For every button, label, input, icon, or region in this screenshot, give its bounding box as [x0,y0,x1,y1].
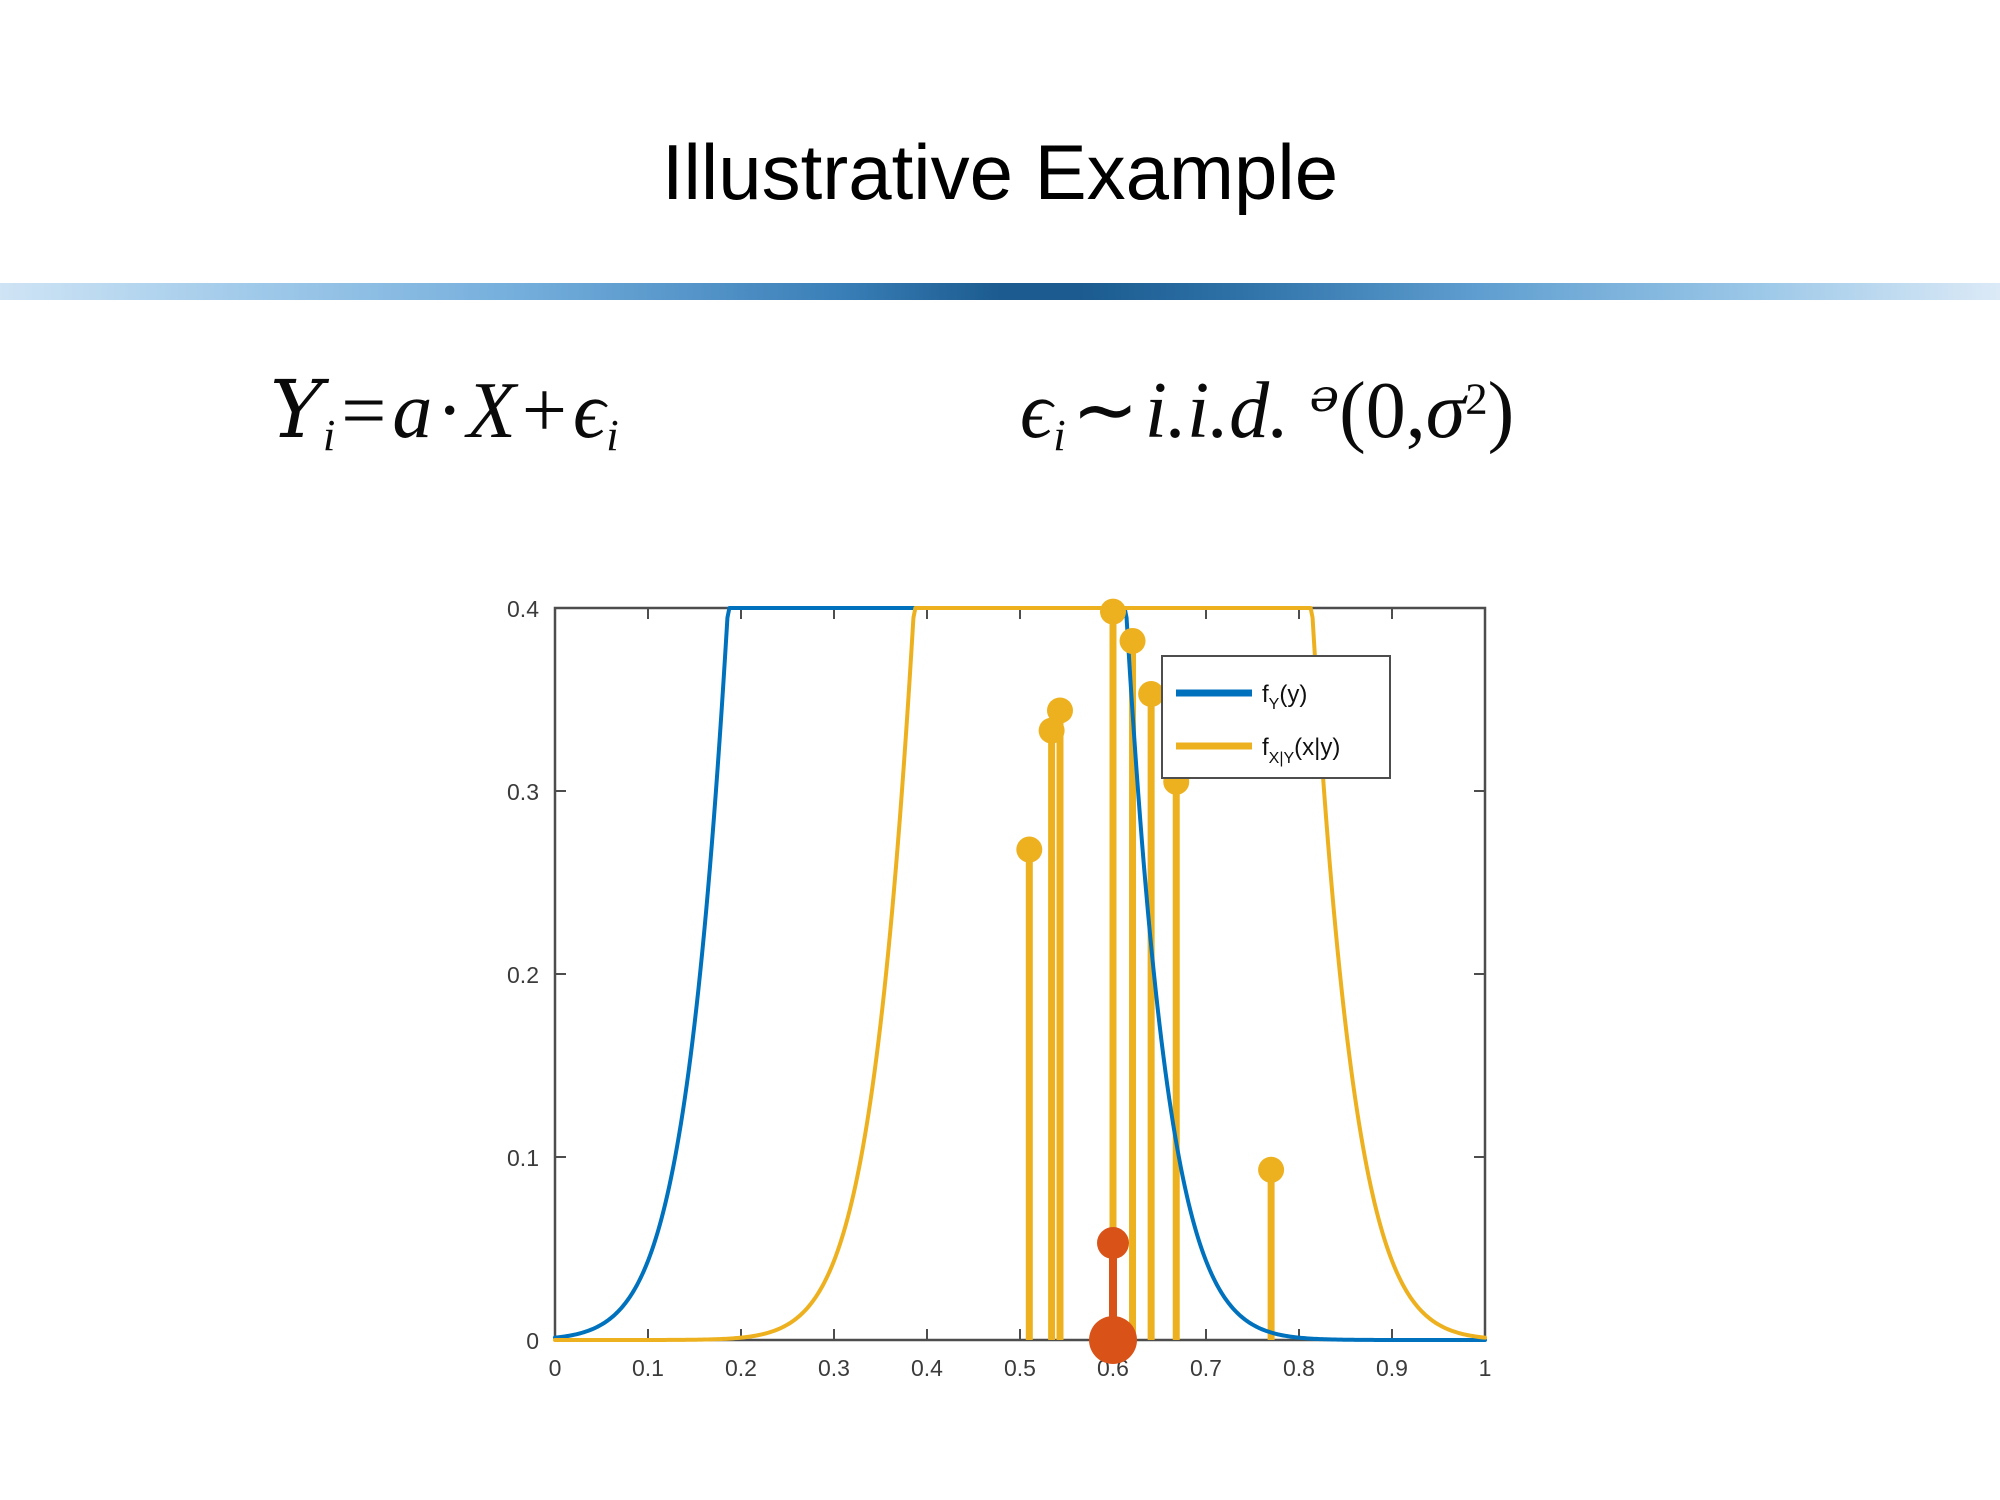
eqn-noise-var: ϵ [1020,367,1052,455]
x-tick-label: 0.3 [818,1355,850,1381]
stem-marker [1100,599,1126,625]
stem-marker [1047,697,1073,723]
x-tick-label: 0.8 [1283,1355,1315,1381]
eqn-tilde: ∼ [1066,367,1145,455]
x-tick-label: 0.9 [1376,1355,1408,1381]
eq-dot: · [432,367,467,455]
eq-noise-var: ϵ [573,367,605,455]
eqn-open-paren: ( [1339,367,1366,455]
true-x-marker-top [1097,1227,1129,1259]
legend-fxy-arg: (x|y) [1294,734,1340,761]
page-title: Illustrative Example [0,132,2000,214]
y-tick-label: 0 [526,1328,539,1354]
x-tick-label: 0.4 [911,1355,943,1381]
chart-legend[interactable]: fY(y) fX|Y(x|y) [1162,656,1390,778]
title-underline-bar [0,283,2000,300]
eq-coef: a [392,367,432,455]
eqn-close-paren: ) [1488,367,1515,455]
stem-marker [1016,837,1042,863]
eq-lhs-var: Y [270,363,322,456]
true-x-marker-base [1089,1316,1137,1364]
eq-equals: = [335,367,392,455]
x-tick-label: 0 [549,1355,562,1381]
y-tick-label: 0.1 [507,1145,539,1171]
x-tick-label: 0.5 [1004,1355,1036,1381]
plot-svg: 00.10.20.30.40.50.60.70.80.91 00.10.20.3… [470,560,1530,1390]
eq-regressor: X [467,367,516,455]
eqn-noise-sub: i [1053,410,1065,460]
eq-lhs-sub: i [323,410,335,460]
equation-row: Yi=a·X+ϵi ϵi∼i.i.d. ᵊ(0,σ2) [250,370,1810,490]
y-tick-label: 0.3 [507,779,539,805]
equation-model: Yi=a·X+ϵi [270,370,619,457]
eqn-variance-var: σ [1426,367,1465,455]
slide-root: Illustrative Example Yi=a·X+ϵi ϵi∼i.i.d.… [0,0,2000,1500]
x-tick-label: 0.7 [1190,1355,1222,1381]
eqn-variance-exp: 2 [1465,374,1487,424]
legend-fy-arg: (y) [1279,681,1307,708]
legend-fy-sub: Y [1269,696,1280,713]
stem-marker [1258,1157,1284,1183]
y-tick-label: 0.2 [507,962,539,988]
illustrative-plot: 00.10.20.30.40.50.60.70.80.91 00.10.20.3… [470,560,1530,1390]
eq-noise-sub: i [606,410,618,460]
x-tick-label: 1 [1479,1355,1492,1381]
y-tick-labels: 00.10.20.30.4 [507,596,539,1354]
x-tick-label: 0.1 [632,1355,664,1381]
y-tick-label: 0.4 [507,596,539,622]
eqn-comma: , [1406,367,1426,455]
eqn-dist-symbol: ᵊ [1309,363,1339,456]
eqn-iid: i.i.d. [1145,367,1289,455]
legend-fxy-sub: X|Y [1269,750,1295,767]
x-tick-labels: 00.10.20.30.40.50.60.70.80.91 [549,1355,1492,1381]
x-tick-label: 0.2 [725,1355,757,1381]
stem-marker [1120,628,1146,654]
stem-marker [1138,681,1164,707]
eq-plus: + [516,367,573,455]
eqn-mean: 0 [1366,367,1406,455]
equation-noise-distribution: ϵi∼i.i.d. ᵊ(0,σ2) [1020,370,1514,457]
